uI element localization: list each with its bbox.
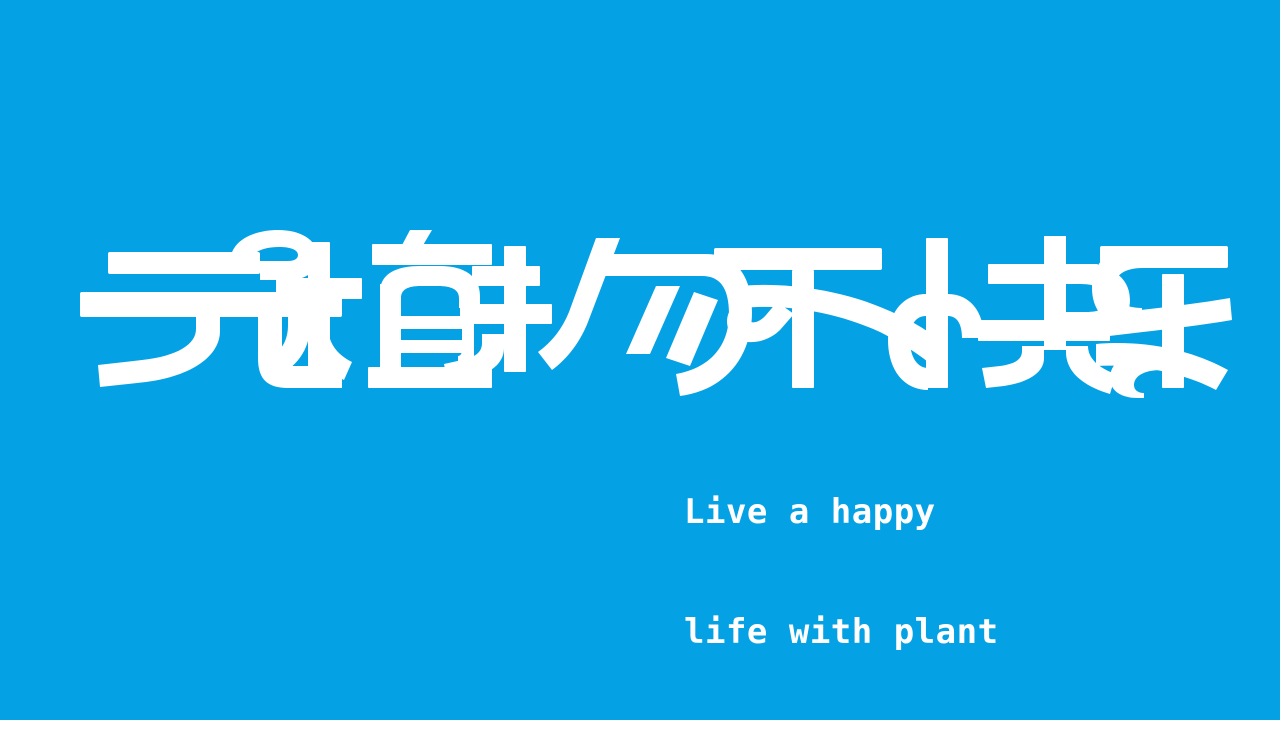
subtitle-line-2: life with plant xyxy=(684,612,999,652)
poster-canvas: 无植物 不快乐 xyxy=(0,0,1280,720)
subtitle-block: Live a happy life with plant xyxy=(684,412,999,732)
headline-char-kuai xyxy=(888,236,1130,394)
subtitle-line-1: Live a happy xyxy=(684,492,999,532)
headline-lockup: 无植物 不快乐 xyxy=(80,230,1200,398)
headline-char-le xyxy=(1092,246,1232,398)
